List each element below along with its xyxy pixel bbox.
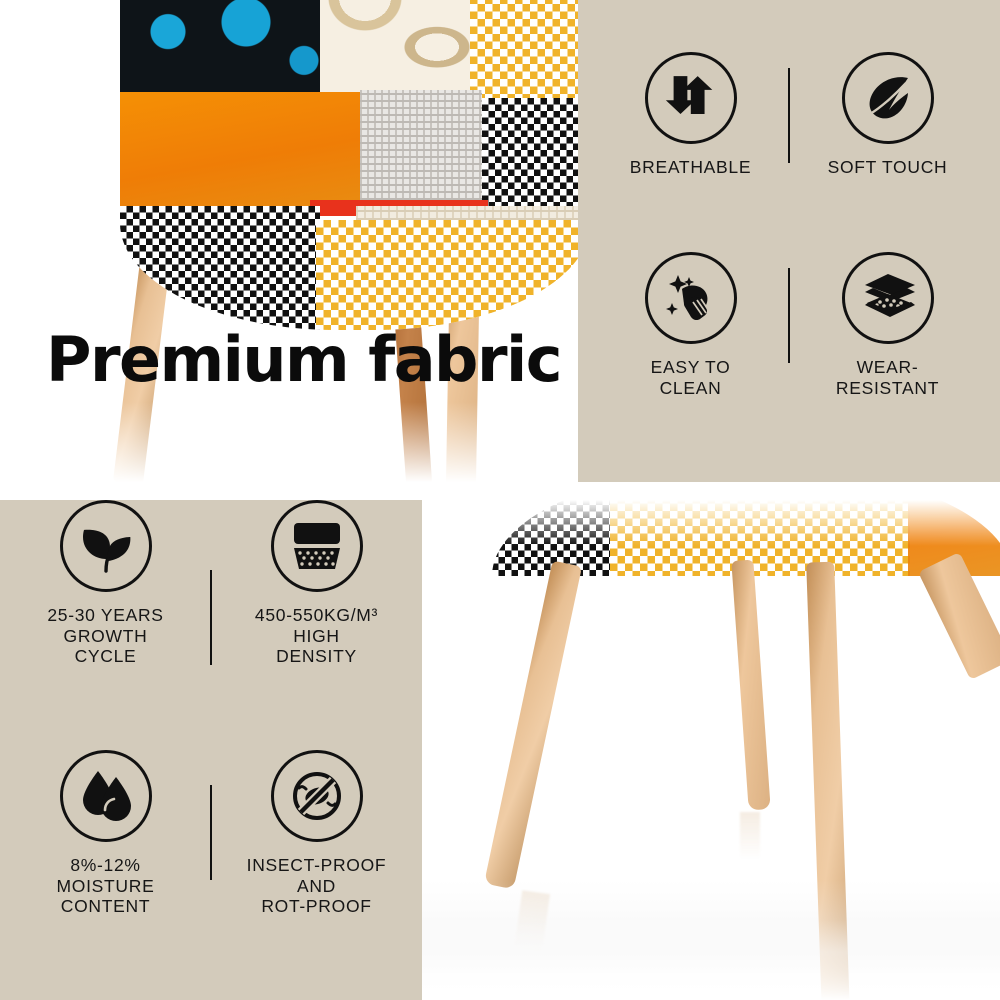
- feature-label: WEAR- RESISTANT: [836, 357, 939, 398]
- feature-label: EASY TO CLEAN: [651, 357, 731, 398]
- feature-label: 8%-12% MOISTURE CONTENT: [57, 855, 155, 917]
- breathable-arrows-icon: [645, 52, 737, 144]
- column-divider: [788, 268, 790, 363]
- chair-leg: [731, 560, 770, 811]
- chair-illustration-top: [0, 0, 578, 482]
- feature-wear-resistant: WEAR- RESISTANT: [789, 252, 986, 452]
- fabric-patch-orange: [120, 92, 360, 212]
- chair-photo-bottom: Solid wood structure: [422, 500, 1000, 1000]
- leaf-sprout-icon: [60, 500, 152, 592]
- feature-label: BREATHABLE: [630, 157, 751, 178]
- feature-moisture-content: 8%-12% MOISTURE CONTENT: [0, 750, 211, 1000]
- feature-breathable: BREATHABLE: [592, 52, 789, 252]
- infographic-canvas: Premium fabric BREATHABLE: [0, 0, 1000, 1000]
- feature-easy-to-clean: EASY TO CLEAN: [592, 252, 789, 452]
- fabric-patch-teal-circles: [120, 0, 320, 94]
- chair-photo-top: Premium fabric: [0, 0, 578, 482]
- no-insect-icon: [271, 750, 363, 842]
- fabric-patch-houndstooth-yellow: [470, 0, 590, 100]
- fabric-patch-swirl: [320, 0, 470, 92]
- leg-reflection: [740, 812, 760, 860]
- column-divider: [788, 68, 790, 163]
- feature-growth-cycle: 25-30 YEARS GROWTH CYCLE: [0, 500, 211, 750]
- headline-premium-fabric: Premium fabric: [46, 330, 561, 390]
- fabric-patch-houndstooth-bw: [120, 206, 320, 330]
- feature-label: 25-30 YEARS GROWTH CYCLE: [47, 605, 163, 667]
- feature-label: INSECT-PROOF AND ROT-PROOF: [247, 855, 387, 917]
- feature-soft-touch: SOFT TOUCH: [789, 52, 986, 252]
- bottom-half-panel: 25-30 YEARS GROWTH CYCLE: [0, 500, 1000, 1000]
- feather-icon: [842, 52, 934, 144]
- density-block-icon: [271, 500, 363, 592]
- photo-edge-fade: [0, 402, 578, 482]
- top-half-panel: Premium fabric BREATHABLE: [0, 0, 1000, 482]
- top-feature-panel: BREATHABLE SOFT TOUCH: [578, 0, 1000, 482]
- cleaning-hand-sparkle-icon: [645, 252, 737, 344]
- photo-edge-fade: [422, 920, 1000, 1000]
- feature-insect-rot-proof: INSECT-PROOF AND ROT-PROOF: [211, 750, 422, 1000]
- layered-fabric-icon: [842, 252, 934, 344]
- photo-edge-fade: [422, 500, 1000, 546]
- feature-high-density: 450-550KG/M³ HIGH DENSITY: [211, 500, 422, 750]
- chair-leg: [484, 560, 582, 889]
- feature-label: SOFT TOUCH: [828, 157, 948, 178]
- fabric-patch-houndstooth-yellow: [316, 220, 590, 330]
- feature-label: 450-550KG/M³ HIGH DENSITY: [255, 605, 378, 667]
- bottom-feature-panel: 25-30 YEARS GROWTH CYCLE: [0, 500, 422, 1000]
- fabric-patch-grey-weave: [360, 90, 482, 214]
- patchwork-upholstery: [120, 0, 590, 330]
- fabric-patch-houndstooth-bw: [482, 98, 590, 218]
- column-divider: [210, 570, 212, 665]
- water-droplets-icon: [60, 750, 152, 842]
- column-divider: [210, 785, 212, 880]
